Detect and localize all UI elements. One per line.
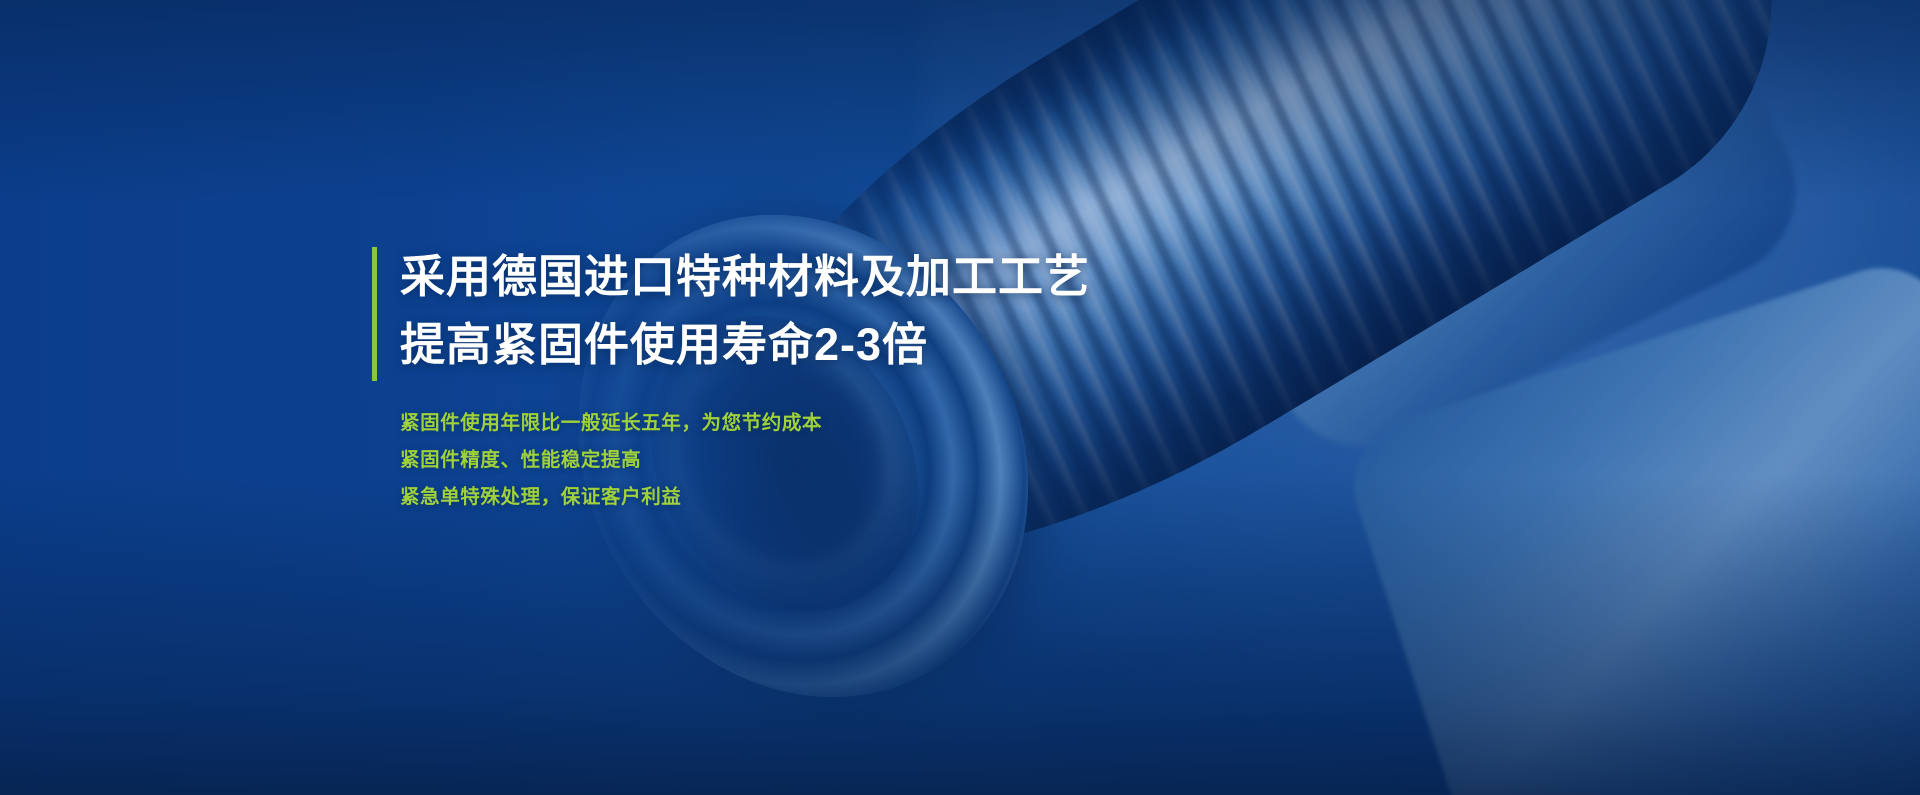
background-vignette-bottom [0,475,1920,795]
subtext-line-1: 紧固件使用年限比一般延长五年，为您节约成本 [400,405,1352,442]
subtext-line-2: 紧固件精度、性能稳定提高 [400,442,1352,479]
subtext-line-3: 紧急单特殊处理，保证客户利益 [400,479,1352,516]
banner-content: 采用德国进口特种材料及加工工艺 提高紧固件使用寿命2-3倍 紧固件使用年限比一般… [372,243,1352,516]
headline-line-2: 提高紧固件使用寿命2-3倍 [400,311,1352,379]
headline-block: 采用德国进口特种材料及加工工艺 提高紧固件使用寿命2-3倍 [372,243,1352,379]
green-accent-bar [372,247,377,381]
hero-banner: 采用德国进口特种材料及加工工艺 提高紧固件使用寿命2-3倍 紧固件使用年限比一般… [0,0,1920,795]
subtext-block: 紧固件使用年限比一般延长五年，为您节约成本 紧固件精度、性能稳定提高 紧急单特殊… [372,405,1352,516]
background-vignette-top [0,0,1920,200]
headline-line-1: 采用德国进口特种材料及加工工艺 [400,243,1352,311]
